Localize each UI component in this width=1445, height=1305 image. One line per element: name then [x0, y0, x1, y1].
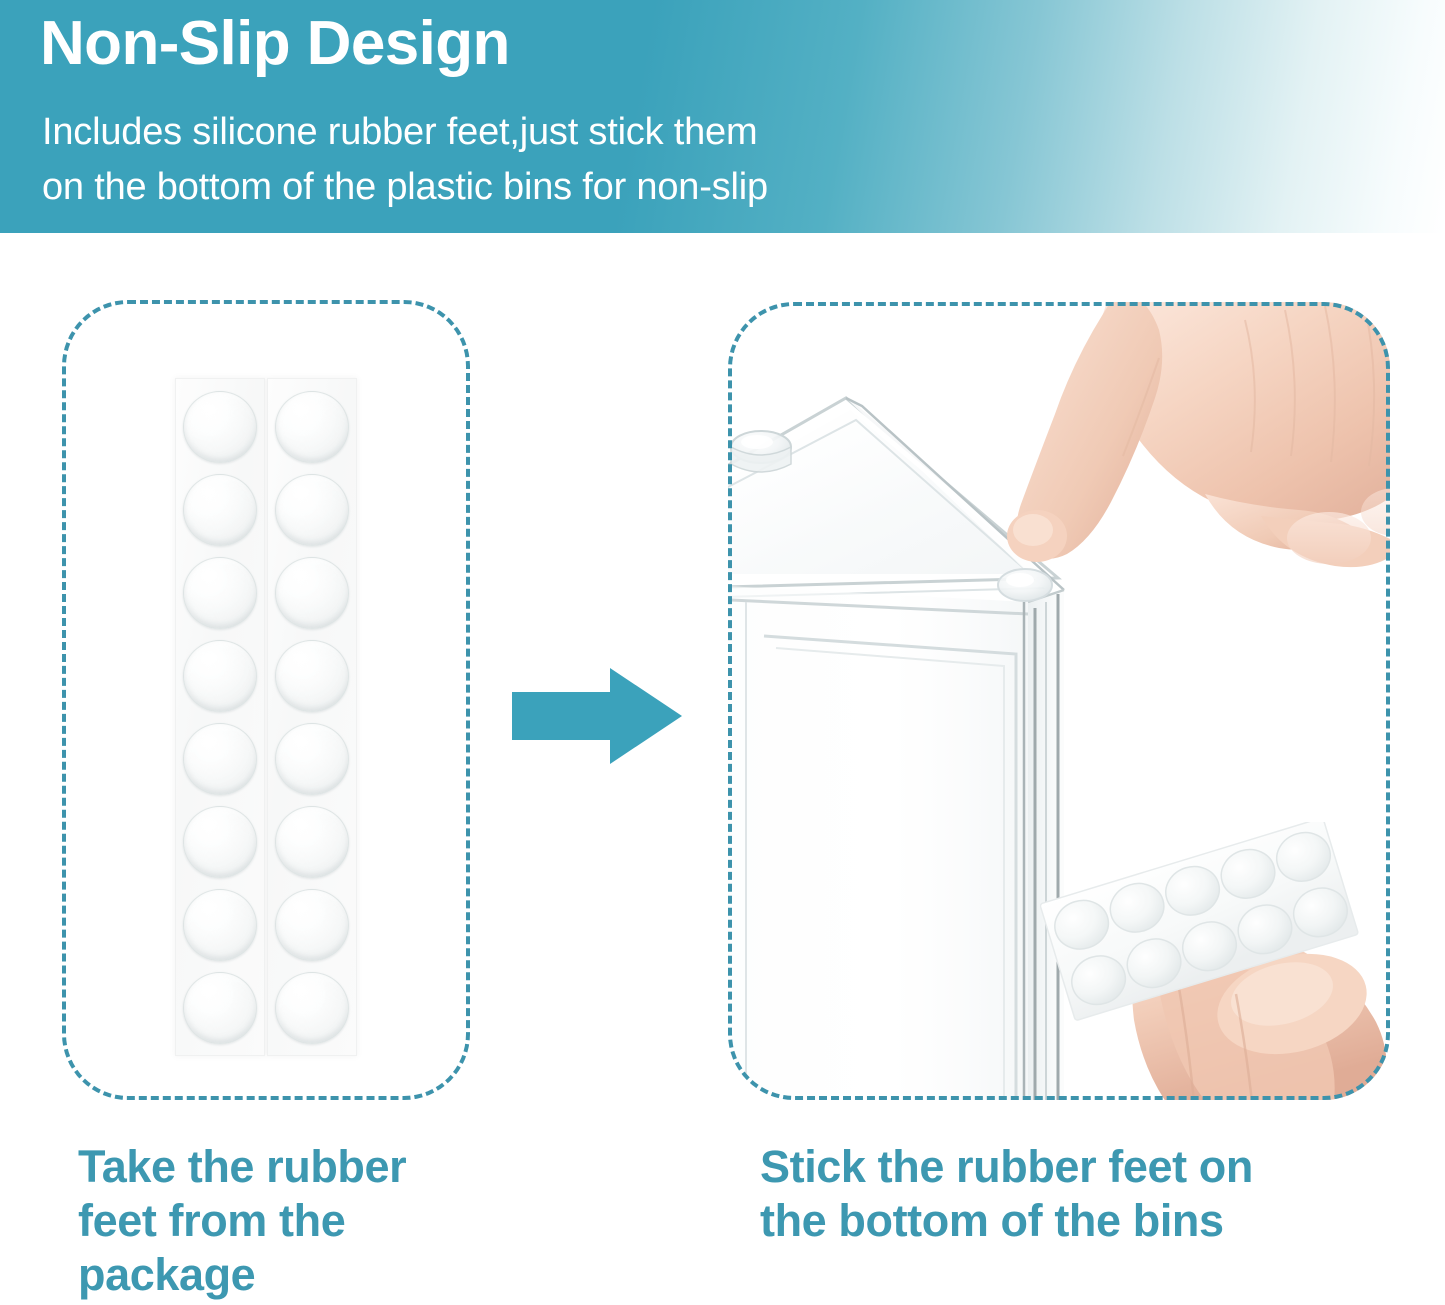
step-2-caption: Stick the rubber feet on the bottom of t… [760, 1140, 1253, 1248]
header-banner: Non-Slip Design Includes silicone rubber… [0, 0, 1445, 233]
bumper-dome [275, 723, 349, 795]
bumper-dome [183, 474, 257, 546]
header-subtitle-line-2: on the bottom of the plastic bins for no… [42, 160, 768, 215]
step-2-caption-line-2: the bottom of the bins [760, 1194, 1253, 1248]
step-1-caption-line-3: package [78, 1248, 406, 1302]
step-2-caption-line-1: Stick the rubber feet on [760, 1140, 1253, 1194]
bumper-dome [183, 640, 257, 712]
bumper-dome [275, 474, 349, 546]
bumper-sheet [175, 378, 357, 1056]
step-1-caption-line-2: feet from the [78, 1194, 406, 1248]
bumper-strip-right [267, 378, 357, 1056]
header-subtitle-line-1: Includes silicone rubber feet,just stick… [42, 105, 768, 160]
header-subtitle: Includes silicone rubber feet,just stick… [42, 105, 768, 215]
bumper-dome [183, 557, 257, 629]
bumper-strip-left [175, 378, 265, 1056]
bumper-dome [183, 889, 257, 961]
bumper-dome [275, 972, 349, 1044]
bumper-dome [183, 806, 257, 878]
bumper-dome [183, 391, 257, 463]
bumper-dome [275, 391, 349, 463]
bumper-dome [183, 972, 257, 1044]
arrow-right-icon [512, 668, 682, 764]
step-1-caption: Take the rubber feet from the package [78, 1140, 406, 1302]
page-title: Non-Slip Design [40, 11, 510, 77]
bumper-dome [275, 889, 349, 961]
bumper-dome [183, 723, 257, 795]
step-2-panel [728, 302, 1390, 1100]
bumper-dome [275, 640, 349, 712]
step-1-caption-line-1: Take the rubber [78, 1140, 406, 1194]
bumper-dome [275, 806, 349, 878]
bumper-dome [275, 557, 349, 629]
